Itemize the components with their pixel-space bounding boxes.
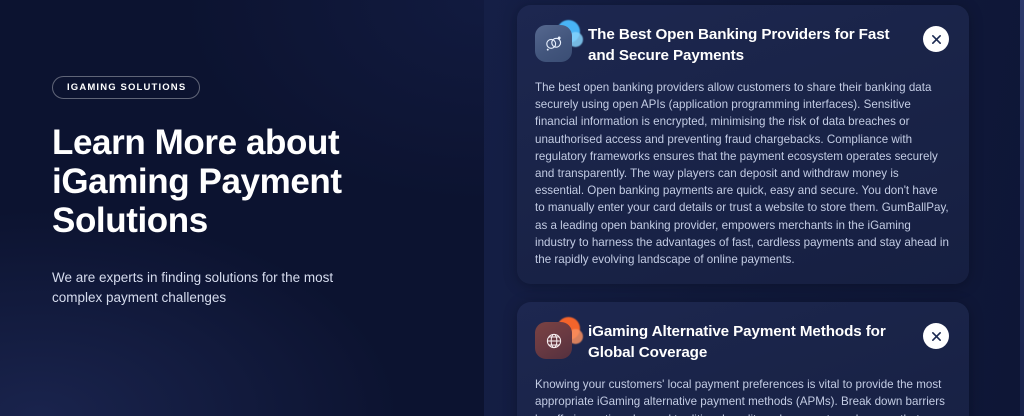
info-card-alternative-payments[interactable]: iGaming Alternative Payment Methods for … bbox=[517, 302, 969, 416]
card-body: The best open banking providers allow cu… bbox=[535, 79, 949, 268]
hero-subtitle: We are experts in finding solutions for … bbox=[52, 268, 352, 308]
hero-section: IGAMING SOLUTIONS Learn More about iGami… bbox=[0, 0, 486, 416]
page-root: IGAMING SOLUTIONS Learn More about iGami… bbox=[0, 0, 1024, 416]
card-title: iGaming Alternative Payment Methods for … bbox=[588, 319, 910, 363]
icon-tile bbox=[535, 322, 572, 359]
card-body: Knowing your customers' local payment pr… bbox=[535, 376, 949, 416]
card-header: The Best Open Banking Providers for Fast… bbox=[535, 22, 949, 66]
close-icon[interactable] bbox=[923, 323, 949, 349]
page-title: Learn More about iGaming Payment Solutio… bbox=[52, 123, 362, 240]
cards-panel: The Best Open Banking Providers for Fast… bbox=[484, 0, 1024, 416]
globe-icon bbox=[535, 320, 575, 360]
panel-right-edge bbox=[1020, 0, 1024, 416]
card-title: The Best Open Banking Providers for Fast… bbox=[588, 22, 910, 66]
icon-tile bbox=[535, 25, 572, 62]
open-banking-circles-icon bbox=[535, 23, 575, 63]
close-icon[interactable] bbox=[923, 26, 949, 52]
info-card-open-banking[interactable]: The Best Open Banking Providers for Fast… bbox=[517, 5, 969, 284]
card-header: iGaming Alternative Payment Methods for … bbox=[535, 319, 949, 363]
eyebrow-badge: IGAMING SOLUTIONS bbox=[52, 76, 200, 99]
